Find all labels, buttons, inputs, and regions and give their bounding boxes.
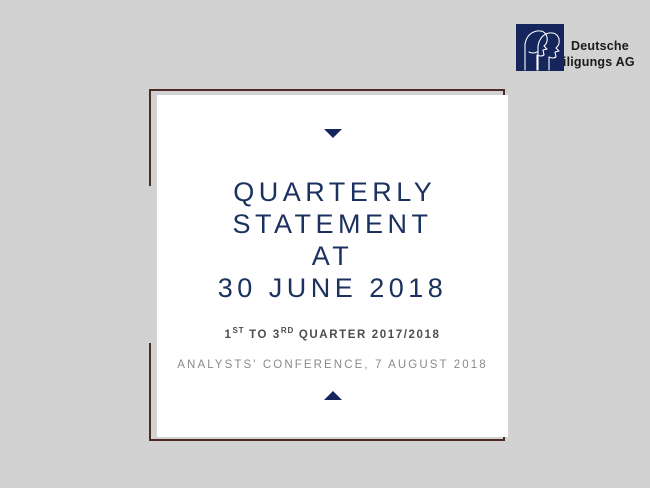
subtitle-first-number: 1 (225, 329, 233, 341)
frame-line-bottom (149, 439, 505, 441)
subtitle-conjunction: TO (244, 329, 273, 341)
logo-wordmark: Deutsche Beteiligungs AG (571, 24, 635, 70)
subtitle-period: QUARTER 2017/2018 (294, 329, 440, 341)
triangle-down-icon (324, 129, 342, 138)
company-logo: Deutsche Beteiligungs AG (516, 24, 635, 71)
subtitle-second-number: 3 (273, 329, 281, 341)
subtitle-second-ordinal: RD (281, 326, 294, 335)
deutsche-beteiligungs-profiles-mark-icon (516, 24, 564, 71)
frame-line-top (149, 89, 505, 91)
title-card: QUARTERLY STATEMENT AT 30 JUNE 2018 1ST … (157, 95, 508, 437)
frame-line-left-upper (149, 89, 151, 186)
subtitle-first-ordinal: ST (233, 326, 245, 335)
quarter-subtitle: 1ST TO 3RD QUARTER 2017/2018 (225, 326, 441, 341)
frame-line-left-lower (149, 343, 151, 441)
logo-line-1: Deutsche (571, 39, 629, 53)
event-line: ANALYSTS' CONFERENCE, 7 AUGUST 2018 (177, 359, 487, 371)
triangle-up-icon (324, 391, 342, 400)
page-title: QUARTERLY STATEMENT AT 30 JUNE 2018 (218, 176, 448, 304)
